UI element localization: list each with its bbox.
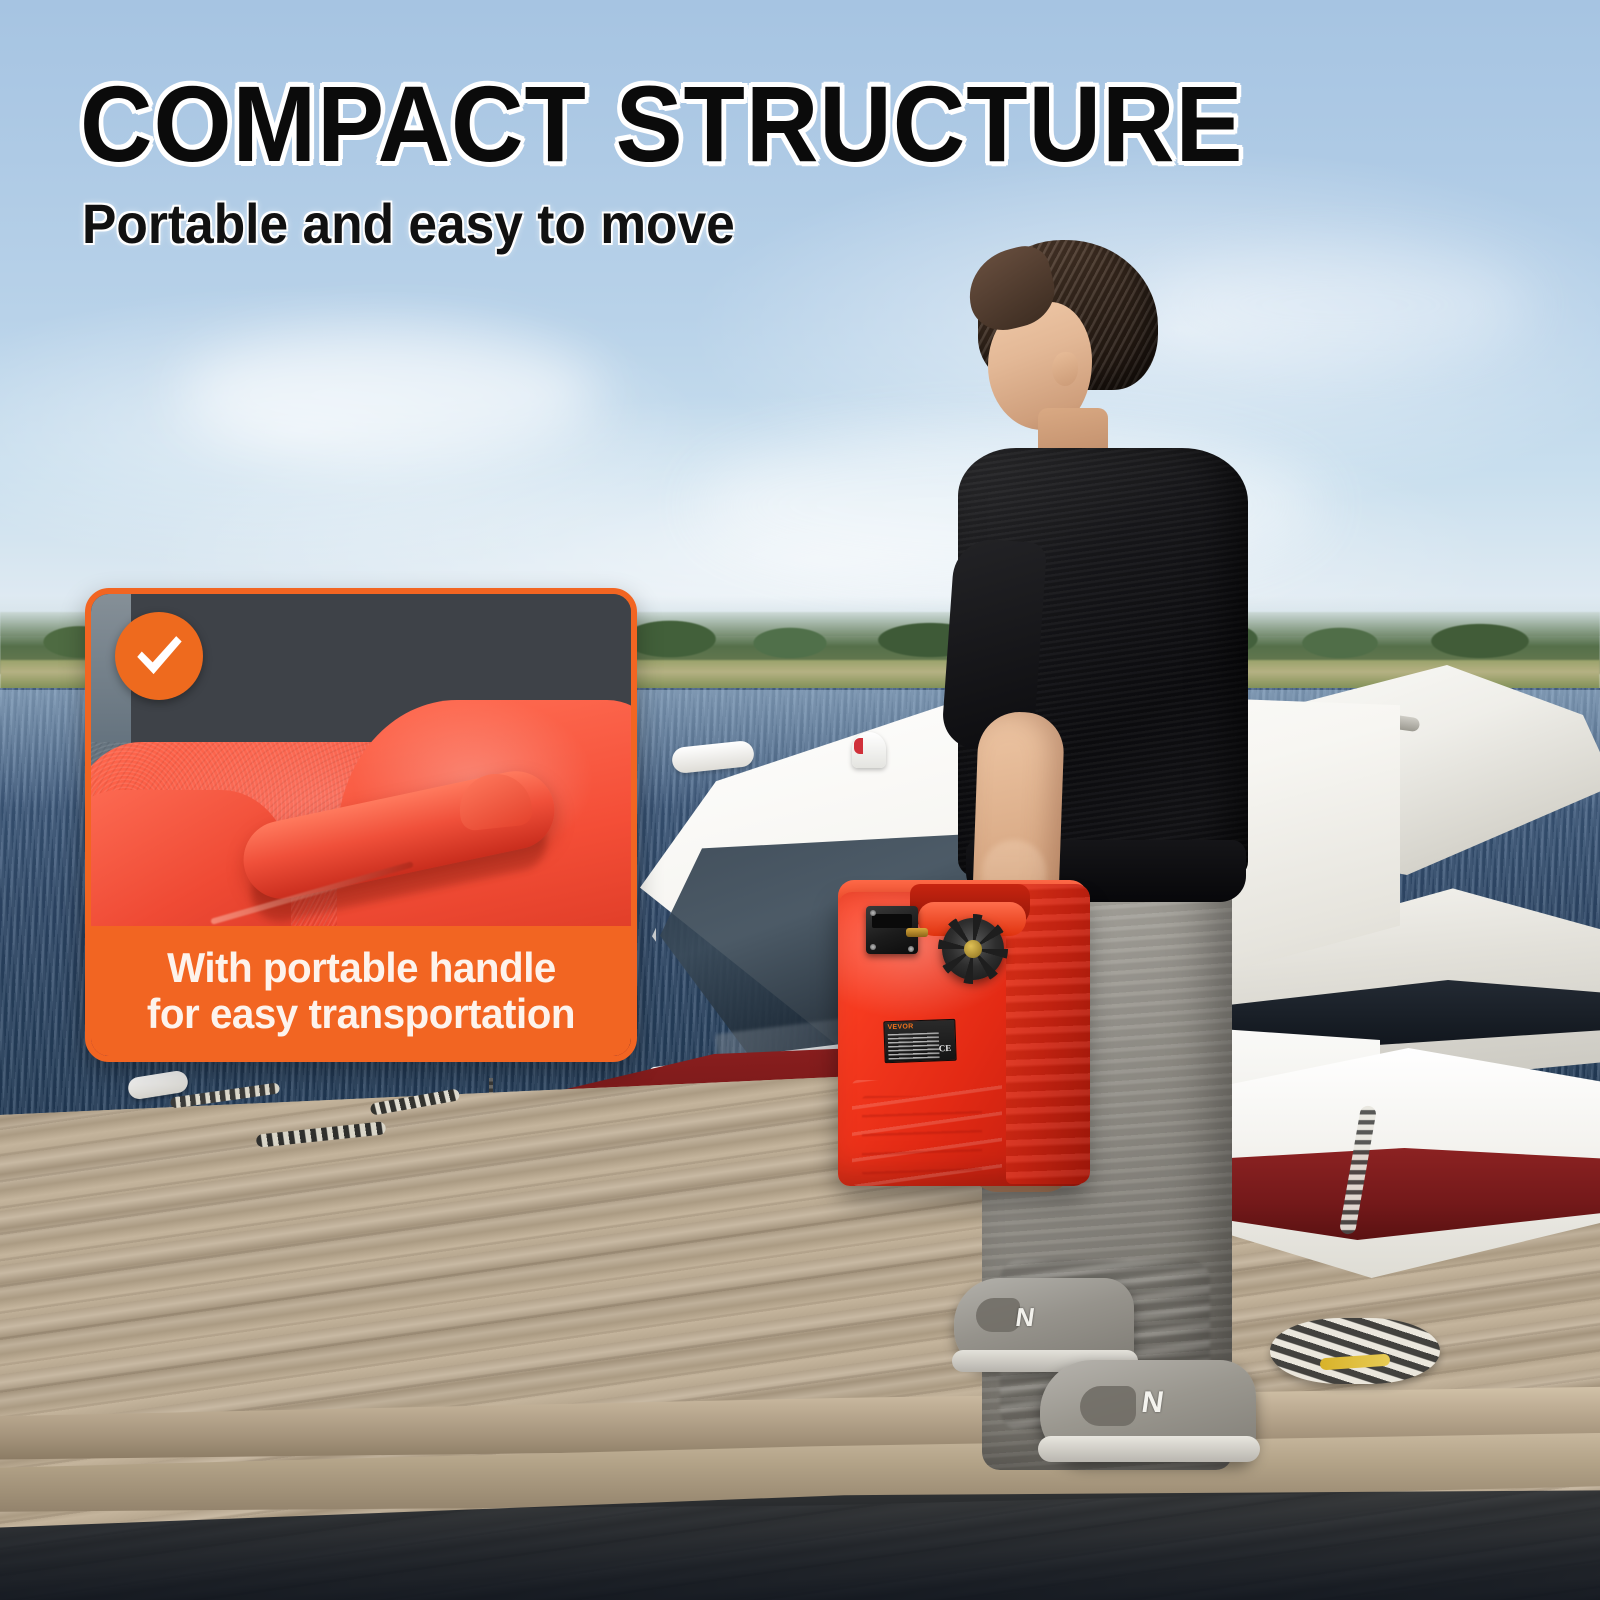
- sneaker-logo-icon: N: [1140, 1386, 1178, 1416]
- navigation-light: [852, 732, 886, 768]
- page-title: COMPACT STRUCTURE: [80, 70, 1243, 178]
- cloud-wisp: [180, 330, 600, 460]
- page-subtitle: Portable and easy to move: [82, 196, 735, 252]
- fitting-screw: [908, 946, 914, 952]
- feature-callout-panel: With portable handle for easy transporta…: [85, 588, 637, 1062]
- fitting-screw: [870, 910, 876, 916]
- product-label-plate: VEVOR CE: [883, 1019, 956, 1063]
- ce-mark-icon: CE: [939, 1043, 952, 1053]
- brand-name: VEVOR: [887, 1023, 913, 1031]
- person-carrying-tank: N N: [930, 240, 1270, 1480]
- tank-embossed-text: [862, 1096, 982, 1176]
- sneaker-sole-front: [1038, 1436, 1260, 1462]
- fitting-screw: [870, 944, 876, 950]
- check-circle-icon: [115, 612, 203, 700]
- sneaker-mesh-panel: [1080, 1386, 1136, 1426]
- marketing-banner: N N VEVOR: [0, 0, 1600, 1600]
- sneaker-logo-icon: N: [1014, 1302, 1048, 1328]
- fuel-cap-vent-knob: [942, 918, 1004, 980]
- caption-line-1: With portable handle: [167, 946, 556, 990]
- fuel-barb-fitting: [906, 928, 928, 937]
- coiled-rope: [1270, 1318, 1440, 1384]
- ear: [1052, 352, 1078, 386]
- label-fine-print: [888, 1032, 940, 1060]
- caption-line-2: for easy transportation: [147, 992, 575, 1036]
- callout-caption-bar: With portable handle for easy transporta…: [91, 926, 631, 1056]
